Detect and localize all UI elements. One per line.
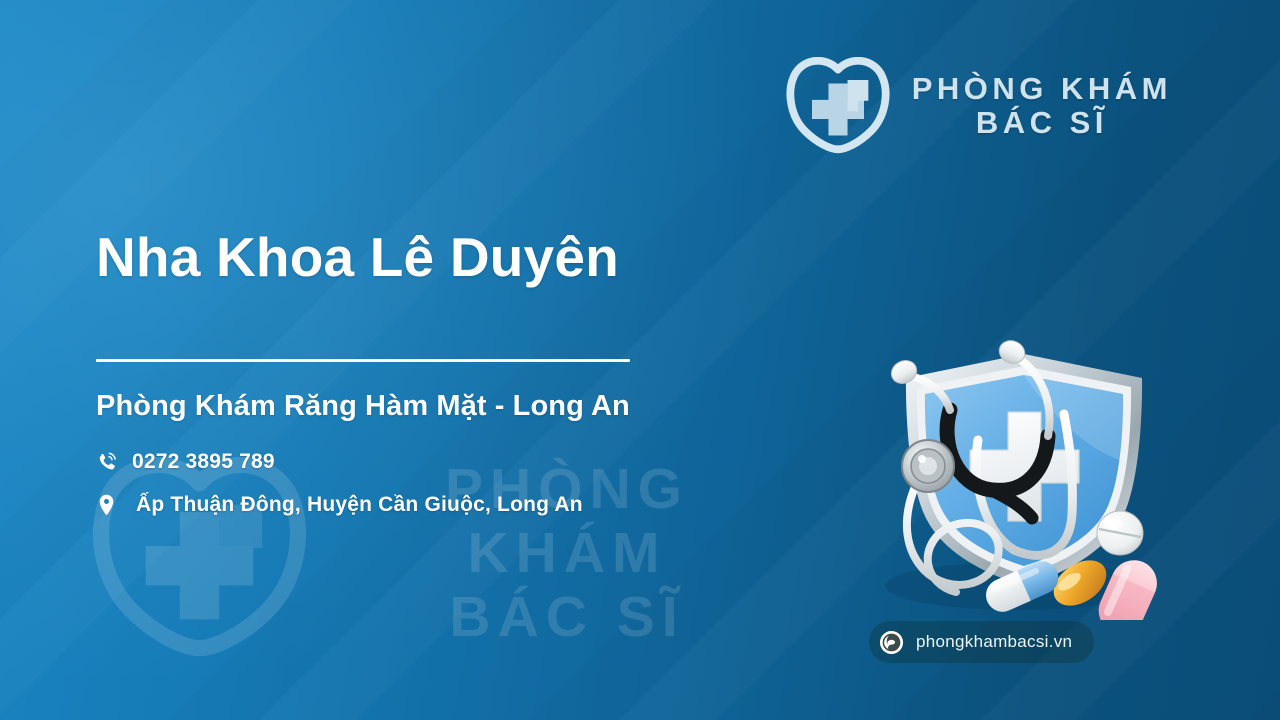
white-round-tablet-icon — [1097, 511, 1143, 555]
address-text: Ấp Thuận Đông, Huyện Cần Giuộc, Long An — [136, 493, 583, 517]
clinic-banner: PHÒNG KHÁM BÁC SĨ PHÒNG KHÁM BÁC SĨ Nha … — [0, 0, 1280, 720]
website-badge[interactable]: phongkhambacsi.vn — [869, 621, 1094, 663]
brand-line-2: BÁC SĨ — [912, 106, 1172, 140]
medical-shield-stethoscope-pills-illustration — [832, 318, 1168, 620]
contact-address[interactable]: Ấp Thuận Đông, Huyện Cần Giuộc, Long An — [96, 493, 816, 517]
clinic-cross-blob-logo-icon — [786, 57, 890, 155]
location-pin-icon — [98, 493, 115, 517]
page-title: Nha Khoa Lê Duyên — [96, 228, 816, 287]
website-url: phongkhambacsi.vn — [916, 632, 1072, 652]
watermark-line-2: BÁC SĨ — [342, 586, 792, 650]
phone-icon — [96, 450, 118, 474]
clinic-subtitle: Phòng Khám Răng Hàm Mặt - Long An — [96, 390, 816, 423]
title-divider — [96, 359, 630, 362]
contact-phone[interactable]: 0272 3895 789 — [96, 450, 816, 474]
clinic-info-block: Nha Khoa Lê Duyên Phòng Khám Răng Hàm Mặ… — [96, 228, 816, 517]
brand-text: PHÒNG KHÁM BÁC SĨ — [912, 72, 1172, 140]
globe-icon — [879, 630, 904, 655]
contact-list: 0272 3895 789 Ấp Thuận Đông, Huyện Cần G… — [96, 450, 816, 517]
brand-line-1: PHÒNG KHÁM — [912, 72, 1172, 106]
brand-logo: PHÒNG KHÁM BÁC SĨ — [786, 57, 1172, 155]
phone-number: 0272 3895 789 — [132, 450, 275, 474]
